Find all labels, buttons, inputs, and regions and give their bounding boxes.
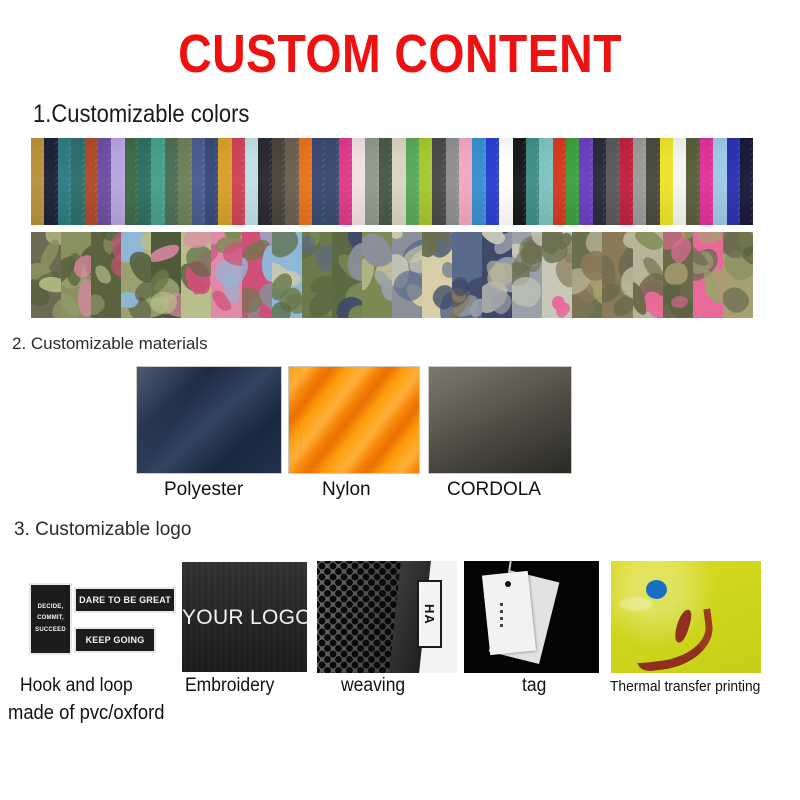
swatch-shading bbox=[111, 138, 124, 225]
logo-caption-hook-and-loop: Hook and loop bbox=[20, 675, 133, 697]
material-label-cordola: CORDOLA bbox=[447, 479, 541, 501]
swatch-shading bbox=[205, 138, 218, 225]
swatch-shading bbox=[660, 138, 673, 225]
thermal-swoosh-icon bbox=[632, 608, 717, 672]
camo-swatch bbox=[31, 232, 61, 318]
swatch-shading bbox=[472, 138, 485, 225]
camo-blob bbox=[633, 232, 663, 254]
color-swatch bbox=[71, 138, 84, 225]
color-swatch bbox=[245, 138, 258, 225]
swatch-shading bbox=[646, 138, 659, 225]
camo-swatch bbox=[422, 232, 452, 318]
color-swatch-strip bbox=[31, 138, 753, 225]
color-swatch bbox=[686, 138, 699, 225]
camo-swatch bbox=[512, 232, 542, 318]
color-swatch bbox=[339, 138, 352, 225]
camo-swatch bbox=[572, 232, 602, 318]
camo-swatch bbox=[392, 232, 422, 318]
color-swatch bbox=[553, 138, 566, 225]
swatch-shading bbox=[192, 138, 205, 225]
patch-line-2: COMMIT, bbox=[37, 613, 64, 624]
swatch-shading bbox=[71, 138, 84, 225]
color-swatch bbox=[111, 138, 124, 225]
logo-sample-embroidery: YOUR LOGO bbox=[182, 562, 307, 672]
material-label-nylon: Nylon bbox=[322, 479, 371, 501]
color-swatch bbox=[526, 138, 539, 225]
swatch-shading bbox=[218, 138, 231, 225]
camo-blob bbox=[272, 302, 292, 318]
camo-blob bbox=[272, 232, 302, 264]
material-image-cordola bbox=[428, 366, 572, 474]
color-swatch bbox=[192, 138, 205, 225]
color-swatch bbox=[539, 138, 552, 225]
swatch-shading bbox=[620, 138, 633, 225]
logo-caption-made-of: made of pvc/oxford bbox=[8, 702, 164, 725]
color-swatch bbox=[579, 138, 592, 225]
swatch-shading bbox=[419, 138, 432, 225]
camo-swatch bbox=[121, 232, 151, 318]
color-swatch bbox=[513, 138, 526, 225]
camo-swatch bbox=[151, 232, 181, 318]
camo-swatch bbox=[181, 232, 211, 318]
embroidery-text: YOUR LOGO bbox=[182, 606, 307, 630]
swatch-shading bbox=[459, 138, 472, 225]
camo-blob bbox=[441, 261, 453, 279]
camo-swatch bbox=[332, 232, 362, 318]
camo-blob bbox=[151, 241, 181, 264]
camo-blob bbox=[345, 242, 362, 283]
patch-line-3: SUCCEED bbox=[35, 625, 66, 636]
logo-caption-tag: tag bbox=[522, 675, 546, 697]
color-swatch bbox=[352, 138, 365, 225]
color-swatch bbox=[178, 138, 191, 225]
tag-hole bbox=[505, 581, 511, 587]
swatch-shading bbox=[700, 138, 713, 225]
woven-label-tag: HA bbox=[417, 580, 442, 648]
color-swatch bbox=[713, 138, 726, 225]
color-swatch bbox=[218, 138, 231, 225]
logo-caption-thermal-transfer-printing: Thermal transfer printing bbox=[610, 678, 760, 695]
swatch-shading bbox=[499, 138, 512, 225]
swatch-shading bbox=[125, 138, 138, 225]
camo-swatch bbox=[452, 232, 482, 318]
swatch-shading bbox=[673, 138, 686, 225]
camo-blob bbox=[723, 283, 753, 317]
color-swatch bbox=[459, 138, 472, 225]
swatch-shading bbox=[272, 138, 285, 225]
color-swatch bbox=[58, 138, 71, 225]
color-swatch bbox=[633, 138, 646, 225]
swatch-shading bbox=[138, 138, 151, 225]
patch-keep-going: KEEP GOING bbox=[74, 627, 156, 653]
color-swatch bbox=[325, 138, 338, 225]
logo-caption-embroidery: Embroidery bbox=[185, 675, 274, 697]
camo-blob bbox=[262, 245, 271, 282]
swatch-shading bbox=[539, 138, 552, 225]
section-heading-colors: 1.Customizable colors bbox=[33, 100, 249, 129]
swatch-shading bbox=[513, 138, 526, 225]
camo-blob bbox=[392, 232, 406, 242]
color-swatch bbox=[258, 138, 271, 225]
camo-swatch bbox=[542, 232, 572, 318]
color-swatch bbox=[379, 138, 392, 225]
camo-swatch bbox=[242, 232, 272, 318]
color-swatch bbox=[151, 138, 164, 225]
logo-sample-weaving: HA bbox=[317, 561, 457, 673]
camo-swatch bbox=[272, 232, 302, 318]
camo-swatch bbox=[302, 232, 332, 318]
color-swatch bbox=[272, 138, 285, 225]
camo-swatch-strip bbox=[31, 232, 753, 318]
color-swatch bbox=[646, 138, 659, 225]
camo-swatch bbox=[362, 232, 392, 318]
color-swatch bbox=[44, 138, 57, 225]
color-swatch bbox=[593, 138, 606, 225]
material-image-nylon bbox=[288, 366, 420, 474]
swatch-shading bbox=[686, 138, 699, 225]
swatch-shading bbox=[593, 138, 606, 225]
swatch-shading bbox=[579, 138, 592, 225]
swatch-shading bbox=[299, 138, 312, 225]
color-swatch bbox=[700, 138, 713, 225]
camo-blob bbox=[512, 276, 542, 308]
color-swatch bbox=[392, 138, 405, 225]
page-title: CUSTOM CONTENT bbox=[56, 26, 744, 83]
swatch-shading bbox=[553, 138, 566, 225]
swatch-shading bbox=[406, 138, 419, 225]
swatch-shading bbox=[98, 138, 111, 225]
thermal-blue-dot-icon bbox=[646, 580, 667, 599]
color-swatch bbox=[432, 138, 445, 225]
section-heading-logo: 3. Customizable logo bbox=[14, 519, 191, 541]
swatch-shading bbox=[486, 138, 499, 225]
swatch-shading bbox=[258, 138, 271, 225]
swatch-shading bbox=[245, 138, 258, 225]
color-swatch bbox=[285, 138, 298, 225]
swatch-shading bbox=[44, 138, 57, 225]
color-swatch bbox=[499, 138, 512, 225]
swatch-shading bbox=[339, 138, 352, 225]
logo-sample-hook-and-loop: DECIDE, COMMIT, SUCCEED DARE TO BE GREAT… bbox=[18, 563, 178, 671]
color-swatch bbox=[312, 138, 325, 225]
camo-swatch bbox=[723, 232, 753, 318]
color-swatch bbox=[406, 138, 419, 225]
swatch-shading bbox=[151, 138, 164, 225]
logo-sample-tag bbox=[464, 561, 599, 673]
color-swatch bbox=[31, 138, 44, 225]
swatch-shading bbox=[633, 138, 646, 225]
swatch-shading bbox=[352, 138, 365, 225]
color-swatch bbox=[419, 138, 432, 225]
section-heading-materials: 2. Customizable materials bbox=[12, 334, 208, 354]
swatch-shading bbox=[312, 138, 325, 225]
swatch-shading bbox=[285, 138, 298, 225]
color-swatch bbox=[620, 138, 633, 225]
camo-blob bbox=[91, 291, 108, 318]
thermal-smudge bbox=[619, 597, 653, 611]
swatch-shading bbox=[727, 138, 740, 225]
color-swatch bbox=[740, 138, 753, 225]
swatch-shading bbox=[526, 138, 539, 225]
material-label-polyester: Polyester bbox=[164, 479, 243, 501]
camo-blob bbox=[429, 281, 453, 312]
material-image-polyester bbox=[136, 366, 282, 474]
swatch-shading bbox=[446, 138, 459, 225]
swatch-shading bbox=[379, 138, 392, 225]
swatch-shading bbox=[232, 138, 245, 225]
swatch-shading bbox=[432, 138, 445, 225]
color-swatch bbox=[125, 138, 138, 225]
camo-swatch bbox=[693, 232, 723, 318]
camo-blob bbox=[47, 289, 61, 318]
camo-swatch bbox=[91, 232, 121, 318]
color-swatch bbox=[727, 138, 740, 225]
tag-print-marks bbox=[500, 603, 503, 631]
logo-sample-thermal-transfer bbox=[611, 561, 761, 673]
swatch-shading bbox=[713, 138, 726, 225]
swatch-shading bbox=[31, 138, 44, 225]
camo-swatch bbox=[602, 232, 632, 318]
camo-swatch bbox=[663, 232, 693, 318]
color-swatch bbox=[85, 138, 98, 225]
color-swatch bbox=[98, 138, 111, 225]
color-swatch bbox=[472, 138, 485, 225]
patch-line-1: DECIDE, bbox=[38, 602, 64, 613]
color-swatch bbox=[205, 138, 218, 225]
patch-dare-to-be-great: DARE TO BE GREAT bbox=[74, 587, 176, 613]
patch-decide-commit-succeed: DECIDE, COMMIT, SUCCEED bbox=[29, 583, 72, 655]
camo-swatch bbox=[61, 232, 91, 318]
swatch-shading bbox=[566, 138, 579, 225]
swatch-shading bbox=[85, 138, 98, 225]
camo-swatch bbox=[482, 232, 512, 318]
color-swatch bbox=[232, 138, 245, 225]
color-swatch bbox=[566, 138, 579, 225]
swatch-shading bbox=[58, 138, 71, 225]
swatch-shading bbox=[392, 138, 405, 225]
swatch-shading bbox=[365, 138, 378, 225]
swatch-shading bbox=[165, 138, 178, 225]
color-swatch bbox=[673, 138, 686, 225]
color-swatch bbox=[299, 138, 312, 225]
camo-swatch bbox=[633, 232, 663, 318]
swatch-shading bbox=[178, 138, 191, 225]
swatch-shading bbox=[606, 138, 619, 225]
color-swatch bbox=[486, 138, 499, 225]
swatch-shading bbox=[740, 138, 753, 225]
color-swatch bbox=[606, 138, 619, 225]
product-detail-page: CUSTOM CONTENT 1.Customizable colors 2. … bbox=[0, 0, 800, 800]
camo-swatch bbox=[211, 232, 241, 318]
color-swatch bbox=[138, 138, 151, 225]
color-swatch bbox=[660, 138, 673, 225]
color-swatch bbox=[446, 138, 459, 225]
camo-blob bbox=[622, 232, 633, 250]
swatch-shading bbox=[325, 138, 338, 225]
color-swatch bbox=[165, 138, 178, 225]
logo-caption-weaving: weaving bbox=[341, 675, 405, 697]
color-swatch bbox=[365, 138, 378, 225]
